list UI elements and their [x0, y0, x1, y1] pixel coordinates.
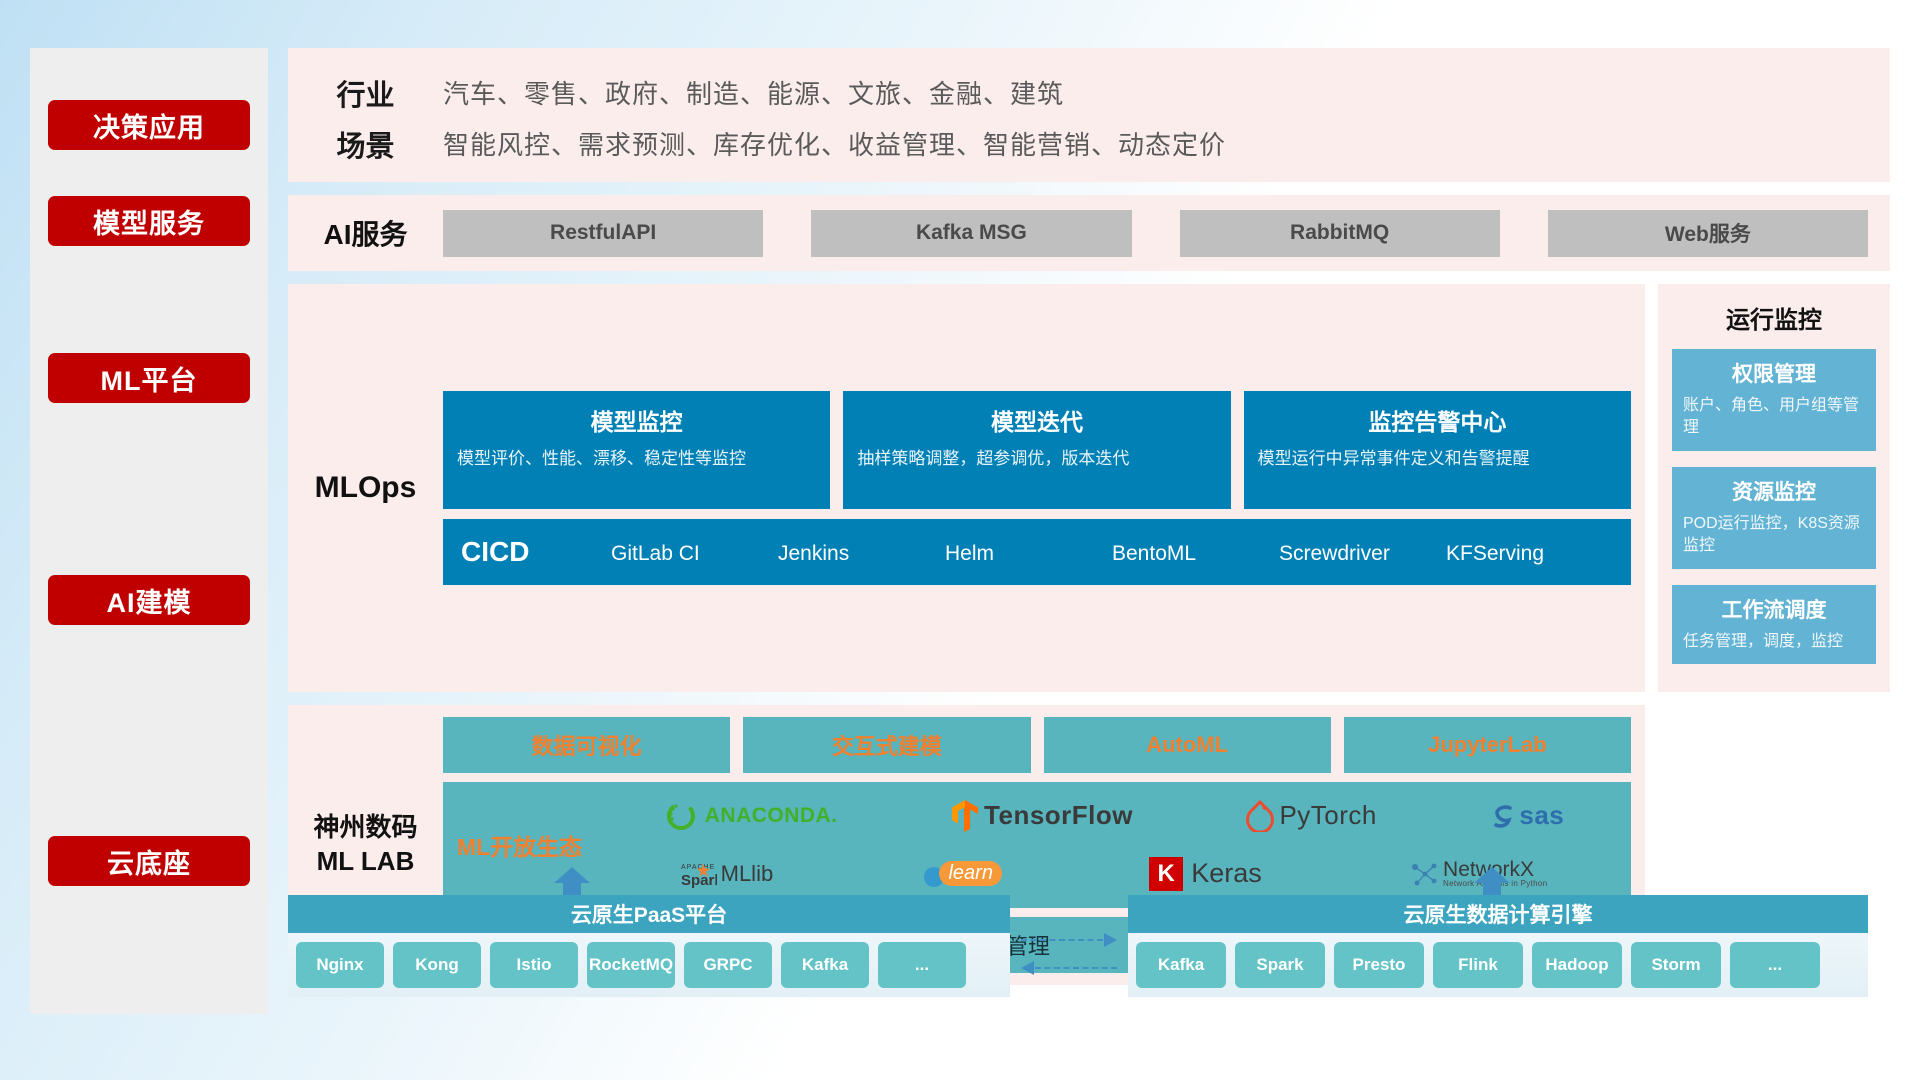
monitor-card-title: 权限管理: [1683, 358, 1865, 388]
cloud-pill[interactable]: RocketMQ: [587, 942, 675, 988]
mlops-card-desc: 抽样策略调整，超参调优，版本迭代: [857, 447, 1216, 470]
cloud-paas-block: 云原生PaaS平台 Nginx Kong Istio RocketMQ GRPC…: [288, 895, 1010, 997]
cicd-item[interactable]: Jenkins: [778, 537, 945, 567]
sas-logo: sas: [1490, 800, 1564, 831]
mlops-card[interactable]: 监控告警中心 模型运行中异常事件定义和告警提醒: [1244, 391, 1631, 509]
cloud-base-zone: 云原生PaaS平台 Nginx Kong Istio RocketMQ GRPC…: [288, 895, 1890, 1015]
rail-chip-label: 云底座: [107, 842, 191, 881]
sas-wordmark: sas: [1519, 800, 1564, 831]
service-chip[interactable]: Kafka MSG: [811, 210, 1131, 257]
mllib-wordmark: MLlib: [721, 861, 774, 887]
arrow-left: [1021, 967, 1117, 969]
cloud-paas-pill-group: Nginx Kong Istio RocketMQ GRPC Kafka ...: [288, 933, 1010, 997]
monitor-card-desc: 账户、角色、用户组等管理: [1683, 395, 1865, 440]
ml-tool-chip[interactable]: JupyterLab: [1344, 717, 1631, 773]
ml-lab-label-line1: 神州数码: [288, 811, 443, 845]
industry-row: 行业 汽车、零售、政府、制造、能源、文旅、金融、建筑: [288, 70, 1890, 115]
scenario-key: 场景: [288, 123, 443, 165]
service-chip[interactable]: Web服务: [1548, 210, 1868, 257]
cloud-data-engine-block: 云原生数据计算引擎 Kafka Spark Presto Flink Hadoo…: [1128, 895, 1868, 997]
monitor-card[interactable]: 工作流调度 任务管理，调度，监控: [1672, 585, 1876, 664]
mlops-card-group: 模型监控 模型评价、性能、漂移、稳定性等监控 模型迭代 抽样策略调整，超参调优，…: [443, 391, 1631, 509]
tensorflow-icon: [951, 799, 979, 833]
networkx-icon: [1409, 859, 1439, 889]
decision-application-band: 行业 汽车、零售、政府、制造、能源、文旅、金融、建筑 场景 智能风控、需求预测、…: [288, 48, 1890, 182]
arrow-right: [1021, 939, 1117, 941]
keras-icon: K: [1149, 857, 1183, 891]
cloud-pill[interactable]: GRPC: [684, 942, 772, 988]
ai-service-label: AI服务: [288, 213, 443, 253]
cloud-pill[interactable]: Spark: [1235, 942, 1325, 988]
monitor-card[interactable]: 资源监控 POD运行监控，K8S资源监控: [1672, 467, 1876, 569]
cicd-item[interactable]: GitLab CI: [611, 537, 778, 567]
monitor-card-desc: POD运行监控，K8S资源监控: [1683, 513, 1865, 558]
mlops-card-desc: 模型运行中异常事件定义和告警提醒: [1258, 447, 1617, 470]
cloud-pill[interactable]: Istio: [490, 942, 578, 988]
rail-chip-decision[interactable]: 决策应用: [48, 100, 250, 150]
cloud-pill[interactable]: Presto: [1334, 942, 1424, 988]
anaconda-icon: [664, 799, 698, 833]
keras-wordmark: Keras: [1191, 858, 1262, 889]
monitor-card[interactable]: 权限管理 账户、角色、用户组等管理: [1672, 349, 1876, 451]
cloud-paas-title: 云原生PaaS平台: [288, 895, 1010, 933]
pytorch-icon: [1246, 800, 1274, 832]
mlops-label: MLOps: [288, 471, 443, 505]
mlops-card[interactable]: 模型迭代 抽样策略调整，超参调优，版本迭代: [843, 391, 1230, 509]
cloud-pill[interactable]: Flink: [1433, 942, 1523, 988]
cloud-pill[interactable]: Nginx: [296, 942, 384, 988]
rail-chip-label: AI建模: [107, 581, 192, 620]
monitor-card-title: 工作流调度: [1683, 594, 1865, 624]
ml-ecosystem-logo-row-1: ANACONDA. TensorFlow: [607, 787, 1621, 845]
pytorch-logo: PyTorch: [1246, 800, 1376, 832]
ml-lab-label: 神州数码 ML LAB: [288, 811, 443, 879]
scikit-learn-logo: learn: [920, 859, 1001, 889]
tensorflow-wordmark: TensorFlow: [984, 800, 1133, 831]
spark-mllib-logo: APACHE Spark MLlib: [681, 859, 774, 889]
keras-logo: K Keras: [1149, 857, 1262, 891]
tensorflow-logo: TensorFlow: [951, 799, 1133, 833]
mlops-card-title: 监控告警中心: [1258, 403, 1617, 437]
cloud-pill[interactable]: Storm: [1631, 942, 1721, 988]
industry-value: 汽车、零售、政府、制造、能源、文旅、金融、建筑: [443, 74, 1064, 111]
spark-icon: APACHE Spark: [681, 859, 717, 889]
cloud-pill[interactable]: Hadoop: [1532, 942, 1622, 988]
cicd-item[interactable]: BentoML: [1112, 537, 1279, 567]
ai-service-chip-group: RestfulAPI Kafka MSG RabbitMQ Web服务: [443, 210, 1890, 257]
anaconda-wordmark: ANACONDA.: [705, 804, 838, 828]
service-chip[interactable]: RestfulAPI: [443, 210, 763, 257]
rail-chip-label: 决策应用: [93, 106, 205, 145]
rail-chip-cloud-base[interactable]: 云底座: [48, 836, 250, 886]
ml-tool-chip[interactable]: AutoML: [1044, 717, 1331, 773]
cicd-title: CICD: [461, 536, 611, 568]
industry-key: 行业: [288, 72, 443, 114]
cicd-bar: CICD GitLab CI Jenkins Helm BentoML Scre…: [443, 519, 1631, 585]
svg-text:Spark: Spark: [681, 872, 717, 889]
pytorch-wordmark: PyTorch: [1279, 800, 1376, 831]
ml-tool-group: 数据可视化 交互式建模 AutoML JupyterLab: [443, 717, 1631, 773]
svg-text:APACHE: APACHE: [681, 864, 715, 871]
ml-tool-chip[interactable]: 数据可视化: [443, 717, 730, 773]
bidirectional-arrows: [1010, 895, 1128, 969]
cicd-item[interactable]: Screwdriver: [1279, 537, 1446, 567]
mlops-and-monitor-row: MLOps 模型监控 模型评价、性能、漂移、稳定性等监控 模型迭代 抽样策略调整…: [288, 284, 1890, 692]
ml-ecosystem-logo-grid: ANACONDA. TensorFlow: [607, 787, 1621, 903]
sas-icon: [1490, 801, 1516, 831]
cloud-pill[interactable]: ...: [878, 942, 966, 988]
monitor-card-desc: 任务管理，调度，监控: [1683, 631, 1865, 653]
rail-chip-model-service[interactable]: 模型服务: [48, 196, 250, 246]
scikit-learn-wordmark: learn: [939, 861, 1001, 886]
mlops-band: MLOps 模型监控 模型评价、性能、漂移、稳定性等监控 模型迭代 抽样策略调整…: [288, 284, 1645, 692]
ml-tool-chip[interactable]: 交互式建模: [743, 717, 1030, 773]
ml-ecosystem-bar: ML开放生态 ANACONDA.: [443, 782, 1631, 908]
cicd-item[interactable]: Helm: [945, 537, 1112, 567]
rail-chip-label: ML平台: [101, 359, 198, 398]
architecture-main-column: 行业 汽车、零售、政府、制造、能源、文旅、金融、建筑 场景 智能风控、需求预测、…: [288, 48, 1890, 985]
rail-chip-label: 模型服务: [93, 202, 205, 241]
cloud-data-engine-pill-group: Kafka Spark Presto Flink Hadoop Storm ..…: [1128, 933, 1868, 997]
monitor-card-title: 资源监控: [1683, 476, 1865, 506]
cicd-item[interactable]: KFServing: [1446, 537, 1613, 567]
mlops-card[interactable]: 模型监控 模型评价、性能、漂移、稳定性等监控: [443, 391, 830, 509]
ml-lab-label-line2: ML LAB: [288, 845, 443, 879]
scenario-row: 场景 智能风控、需求预测、库存优化、收益管理、智能营销、动态定价: [288, 121, 1890, 166]
stack-layer-rail: 决策应用 模型服务 ML平台 AI建模 云底座: [30, 48, 268, 1014]
run-monitor-panel: 运行监控 权限管理 账户、角色、用户组等管理 资源监控 POD运行监控，K8S资…: [1658, 284, 1890, 692]
scenario-value: 智能风控、需求预测、库存优化、收益管理、智能营销、动态定价: [443, 125, 1226, 162]
rail-chip-ai-modeling[interactable]: AI建模: [48, 575, 250, 625]
cloud-data-engine-title: 云原生数据计算引擎: [1128, 895, 1868, 933]
mlops-card-title: 模型监控: [457, 403, 816, 437]
anaconda-logo: ANACONDA.: [664, 799, 838, 833]
run-monitor-title: 运行监控: [1672, 300, 1876, 335]
rail-chip-ml-platform[interactable]: ML平台: [48, 353, 250, 403]
cloud-pill[interactable]: Kafka: [781, 942, 869, 988]
mlops-card-desc: 模型评价、性能、漂移、稳定性等监控: [457, 447, 816, 470]
mlops-card-title: 模型迭代: [857, 403, 1216, 437]
ml-ecosystem-label: ML开放生态: [457, 828, 607, 862]
cicd-item-group: GitLab CI Jenkins Helm BentoML Screwdriv…: [611, 537, 1613, 567]
service-chip[interactable]: RabbitMQ: [1180, 210, 1500, 257]
ai-service-band: AI服务 RestfulAPI Kafka MSG RabbitMQ Web服务: [288, 195, 1890, 271]
cloud-pill[interactable]: ...: [1730, 942, 1820, 988]
cloud-pill[interactable]: Kong: [393, 942, 481, 988]
cloud-pill[interactable]: Kafka: [1136, 942, 1226, 988]
